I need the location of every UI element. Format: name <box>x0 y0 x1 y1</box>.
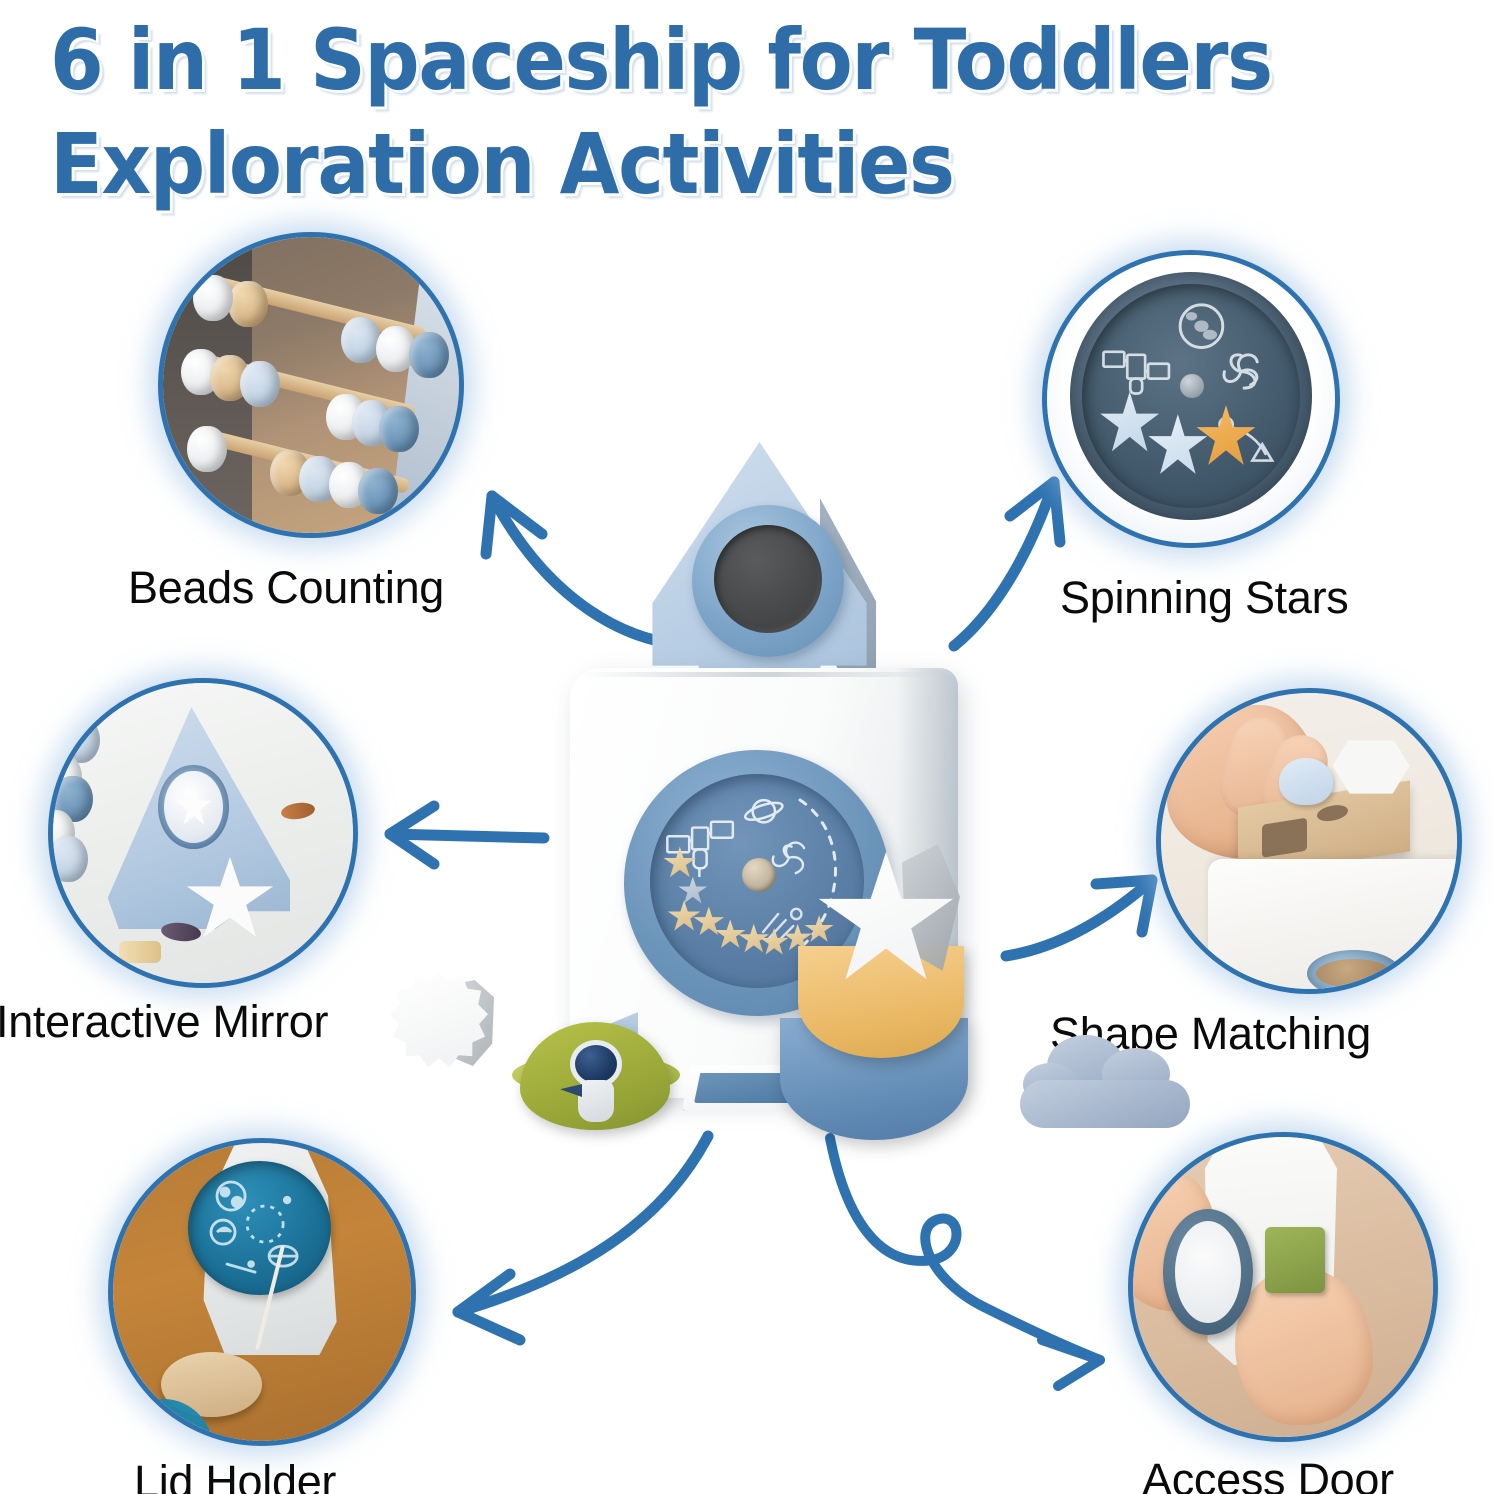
galaxy-swirl-motif-icon <box>1208 338 1274 405</box>
feature-shape-matching[interactable]: Shape Matching <box>1156 688 1462 994</box>
page-title: 6 in 1 Spaceship for Toddlers Exploratio… <box>50 8 1450 216</box>
access-door-photo[interactable] <box>1128 1132 1438 1442</box>
interactive-mirror-photo[interactable] <box>48 678 358 988</box>
title-line-1: 6 in 1 Spaceship for Toddlers <box>50 8 1338 112</box>
feature-access-door[interactable]: Access Door <box>1128 1132 1438 1442</box>
access-door-scene <box>1133 1137 1433 1437</box>
rocket-porthole <box>692 505 844 657</box>
shape-sorter-scene <box>1161 693 1457 989</box>
feature-interactive-mirror[interactable]: Interactive Mirror <box>48 678 358 988</box>
infographic-canvas: 6 in 1 Spaceship for Toddlers Exploratio… <box>0 0 1494 1494</box>
title-line-2: Exploration Activities <box>50 112 1338 216</box>
feature-spinning-stars[interactable]: Spinning Stars <box>1042 250 1340 548</box>
star-drum-scene <box>1047 255 1335 543</box>
beads-counting-photo[interactable] <box>158 232 464 538</box>
arrow-to-lid-holder <box>420 1130 720 1360</box>
lid-space-motifs-icon <box>199 1172 319 1292</box>
feature-label-spinning-stars: Spinning Stars <box>1060 572 1348 624</box>
satellite-motif-icon <box>1099 333 1173 409</box>
rocket-seam <box>580 672 950 677</box>
arrow-to-access-door <box>810 1130 1140 1370</box>
lid-holder-scene <box>113 1143 411 1441</box>
abacus-scene <box>163 237 459 533</box>
astronaut-body-icon <box>578 1080 614 1122</box>
drum-hub <box>742 858 776 892</box>
astronaut-arm-icon <box>560 1084 582 1097</box>
star-piece-light-blue-2 <box>1147 414 1208 477</box>
product-rocket-toy[interactable] <box>520 420 1040 1140</box>
porthole-glass <box>714 525 822 633</box>
feature-label-access-door: Access Door <box>1142 1454 1394 1494</box>
feature-label-beads-counting: Beads Counting <box>128 562 444 614</box>
shape-matching-photo[interactable] <box>1156 688 1462 994</box>
spinning-stars-photo[interactable] <box>1042 250 1340 548</box>
feature-lid-holder[interactable]: Lid Holder <box>108 1138 416 1446</box>
lid-holder-photo[interactable] <box>108 1138 416 1446</box>
feature-label-lid-holder: Lid Holder <box>134 1456 336 1494</box>
cloud-block-blue[interactable] <box>1020 1020 1190 1128</box>
feature-beads-counting[interactable]: Beads Counting <box>158 232 464 538</box>
feature-label-interactive-mirror: Interactive Mirror <box>0 996 328 1048</box>
mirror-fin-scene <box>53 683 353 983</box>
